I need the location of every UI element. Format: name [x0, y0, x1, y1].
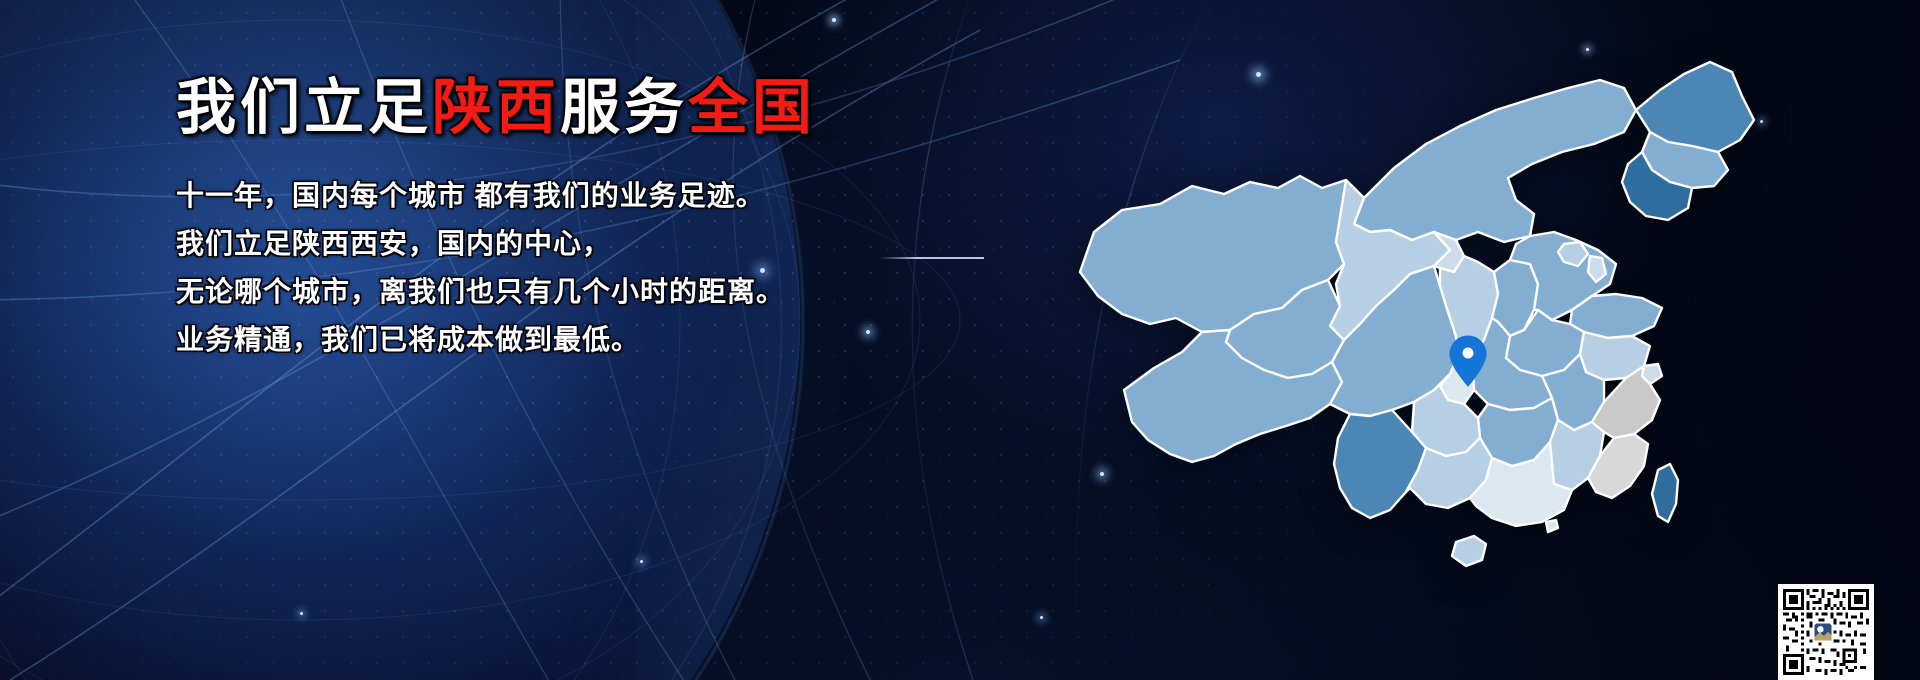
province-hainan — [1452, 536, 1486, 566]
china-map — [1064, 18, 1864, 618]
headline-segment-1: 我们立足 — [176, 74, 432, 141]
particle — [640, 560, 643, 563]
province-inner-mongolia — [1354, 80, 1636, 242]
particle — [300, 612, 303, 615]
particle — [832, 18, 836, 22]
body-line-2: 我们立足陕西西安，国内的中心， — [176, 230, 1076, 258]
particle — [1040, 616, 1043, 619]
headline-segment-4: 全国 — [688, 74, 816, 141]
qr-code[interactable] — [1778, 584, 1874, 680]
qr-code-graphic — [1783, 589, 1869, 675]
promo-banner: 我们立足陕西服务全国 十一年，国内每个城市 都有我们的业务足迹。 我们立足陕西西… — [0, 0, 1920, 680]
body-line-4: 业务精通，我们已将成本做到最低。 — [176, 326, 1076, 354]
copy-block: 我们立足陕西服务全国 十一年，国内每个城市 都有我们的业务足迹。 我们立足陕西西… — [176, 78, 1076, 374]
body-line-1: 十一年，国内每个城市 都有我们的业务足迹。 — [176, 182, 1076, 210]
headline-segment-2: 陕西 — [432, 74, 560, 141]
headline-segment-3: 服务 — [560, 74, 688, 141]
decorative-divider — [880, 257, 984, 259]
page-title: 我们立足陕西服务全国 — [176, 78, 1076, 138]
province-taiwan — [1652, 464, 1678, 522]
province-hongkong — [1546, 520, 1558, 532]
body-line-3: 无论哪个城市，离我们也只有几个小时的距离。 — [176, 278, 1076, 306]
